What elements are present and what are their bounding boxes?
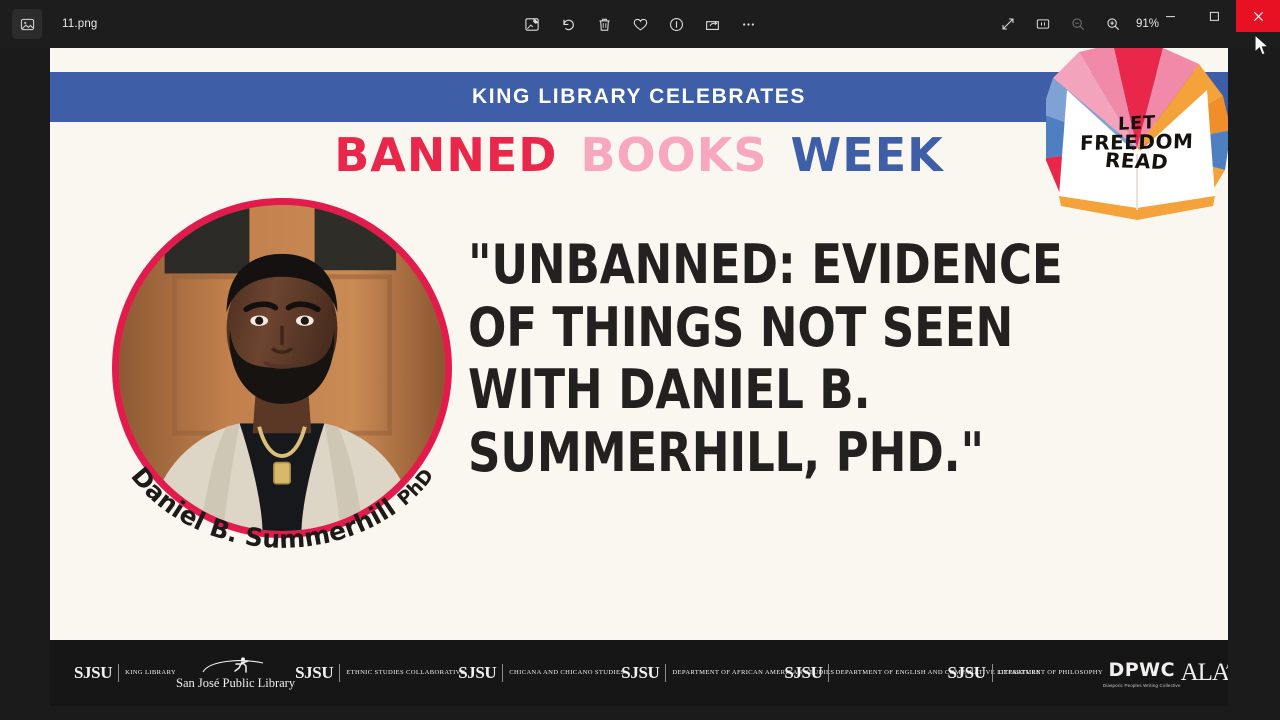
badge-line-3: READ xyxy=(1104,150,1169,171)
logo-divider xyxy=(339,664,340,682)
logo-unit: Chicana and Chicano Studies xyxy=(509,669,621,677)
portrait-curved-name: Daniel B. Summerhill PhD xyxy=(102,434,462,598)
logo-unit: Department of Philosophy xyxy=(999,669,1103,677)
logo-brand: SJSU xyxy=(295,663,333,683)
more-icon[interactable] xyxy=(734,10,762,38)
image-viewer-canvas[interactable]: KING LIBRARY CELEBRATES BANNED BOOKS WEE… xyxy=(0,48,1280,720)
let-freedom-read-badge: LET FREEDOM READ xyxy=(1046,48,1228,230)
logo-sjsu-english-comparative-literature: SJSU Department of English and Comparati… xyxy=(784,663,947,683)
logo-brand: San José Public Library xyxy=(176,676,295,691)
poster-image: KING LIBRARY CELEBRATES BANNED BOOKS WEE… xyxy=(50,48,1228,706)
poster-banner-text: KING LIBRARY CELEBRATES xyxy=(472,85,806,109)
logo-unit: Department of English and Comparative Li… xyxy=(835,669,947,677)
image-icon xyxy=(12,9,42,39)
badge-text: LET FREEDOM READ xyxy=(1046,48,1228,230)
close-button[interactable] xyxy=(1236,0,1280,32)
logo-sjsu-king-library: SJSU King Library xyxy=(74,663,176,683)
logo-divider xyxy=(118,664,119,682)
mouse-cursor xyxy=(1253,34,1271,58)
markup-icon[interactable] xyxy=(518,10,546,38)
fullscreen-icon[interactable] xyxy=(994,10,1022,38)
logo-divider xyxy=(828,664,829,682)
share-icon[interactable] xyxy=(698,10,726,38)
info-icon[interactable] xyxy=(662,10,690,38)
logo-ala: ALA American Library Association xyxy=(1181,659,1228,687)
poster-title-word-week: WEEK xyxy=(791,128,944,182)
logo-sjsu-african-american-studies: SJSU Department of African American Stud… xyxy=(621,663,784,683)
logo-unit: Department of African American Studies xyxy=(672,669,784,677)
logo-dpwc: DPWC Diasporic Peoples Writing Collectiv… xyxy=(1103,659,1181,688)
logo-divider xyxy=(665,664,666,682)
maximize-button[interactable] xyxy=(1192,0,1236,32)
logo-sjsu-philosophy: SJSU Department of Philosophy xyxy=(947,663,1102,683)
logo-brand: SJSU xyxy=(947,663,985,683)
logo-unit: Diasporic Peoples Writing Collective xyxy=(1103,683,1181,688)
speaker-portrait-group: Daniel B. Summerhill PhD xyxy=(102,198,462,598)
file-tab[interactable]: 11.png xyxy=(4,4,124,44)
photos-viewer-window: 11.png xyxy=(0,0,1280,720)
zoom-out-icon[interactable] xyxy=(1064,10,1092,38)
logo-unit: American Library Association xyxy=(1226,663,1228,672)
fit-to-window-icon[interactable] xyxy=(1029,10,1057,38)
zoom-in-icon[interactable] xyxy=(1099,10,1127,38)
logo-divider xyxy=(992,664,993,682)
logo-sjsu-ethnic-studies: SJSU Ethnic Studies Collaborative xyxy=(295,663,458,683)
logo-unit: Ethnic Studies Collaborative xyxy=(346,669,458,677)
svg-text:Daniel B. Summerhill PhD: Daniel B. Summerhill PhD xyxy=(125,462,438,555)
logo-divider xyxy=(502,664,503,682)
runner-icon xyxy=(199,656,273,676)
logo-unit: King Library xyxy=(125,669,176,677)
file-tab-label: 11.png xyxy=(48,18,124,30)
title-bar: 11.png xyxy=(0,0,1280,48)
logo-san-jose-public-library: San José Public Library xyxy=(176,656,295,691)
poster-footer: SJSU King Library San José Public Librar… xyxy=(50,640,1228,706)
logo-brand: SJSU xyxy=(784,663,822,683)
poster-headline: "UNBANNED: EVIDENCE OF THINGS NOT SEEN W… xyxy=(468,234,1138,485)
heart-icon[interactable] xyxy=(626,10,654,38)
logo-brand: SJSU xyxy=(621,663,659,683)
minimize-button[interactable] xyxy=(1148,0,1192,32)
logo-brand: SJSU xyxy=(458,663,496,683)
poster-title-word-banned: BANNED xyxy=(334,128,557,182)
rotate-icon[interactable] xyxy=(554,10,582,38)
logo-brand: SJSU xyxy=(74,663,112,683)
delete-icon[interactable] xyxy=(590,10,618,38)
logo-brand: DPWC xyxy=(1108,659,1175,681)
logo-brand: ALA xyxy=(1181,659,1228,687)
logo-sjsu-chicana-chicano-studies: SJSU Chicana and Chicano Studies xyxy=(458,663,621,683)
poster-title-word-books: BOOKS xyxy=(580,128,767,182)
